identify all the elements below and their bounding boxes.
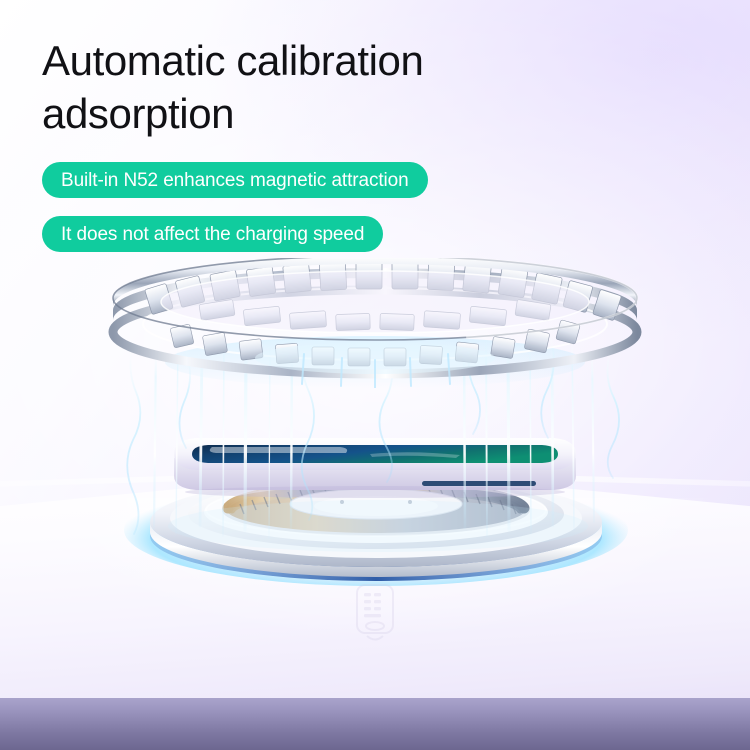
product-poster: Automatic calibration adsorption Built-i… bbox=[0, 0, 750, 750]
magnet-ring bbox=[104, 258, 646, 388]
table-surface bbox=[0, 470, 750, 698]
page-title: Automatic calibration adsorption bbox=[42, 34, 642, 140]
feature-pill-1: Built-in N52 enhances magnetic attractio… bbox=[42, 162, 428, 198]
feature-pill-2: It does not affect the charging speed bbox=[42, 216, 383, 252]
